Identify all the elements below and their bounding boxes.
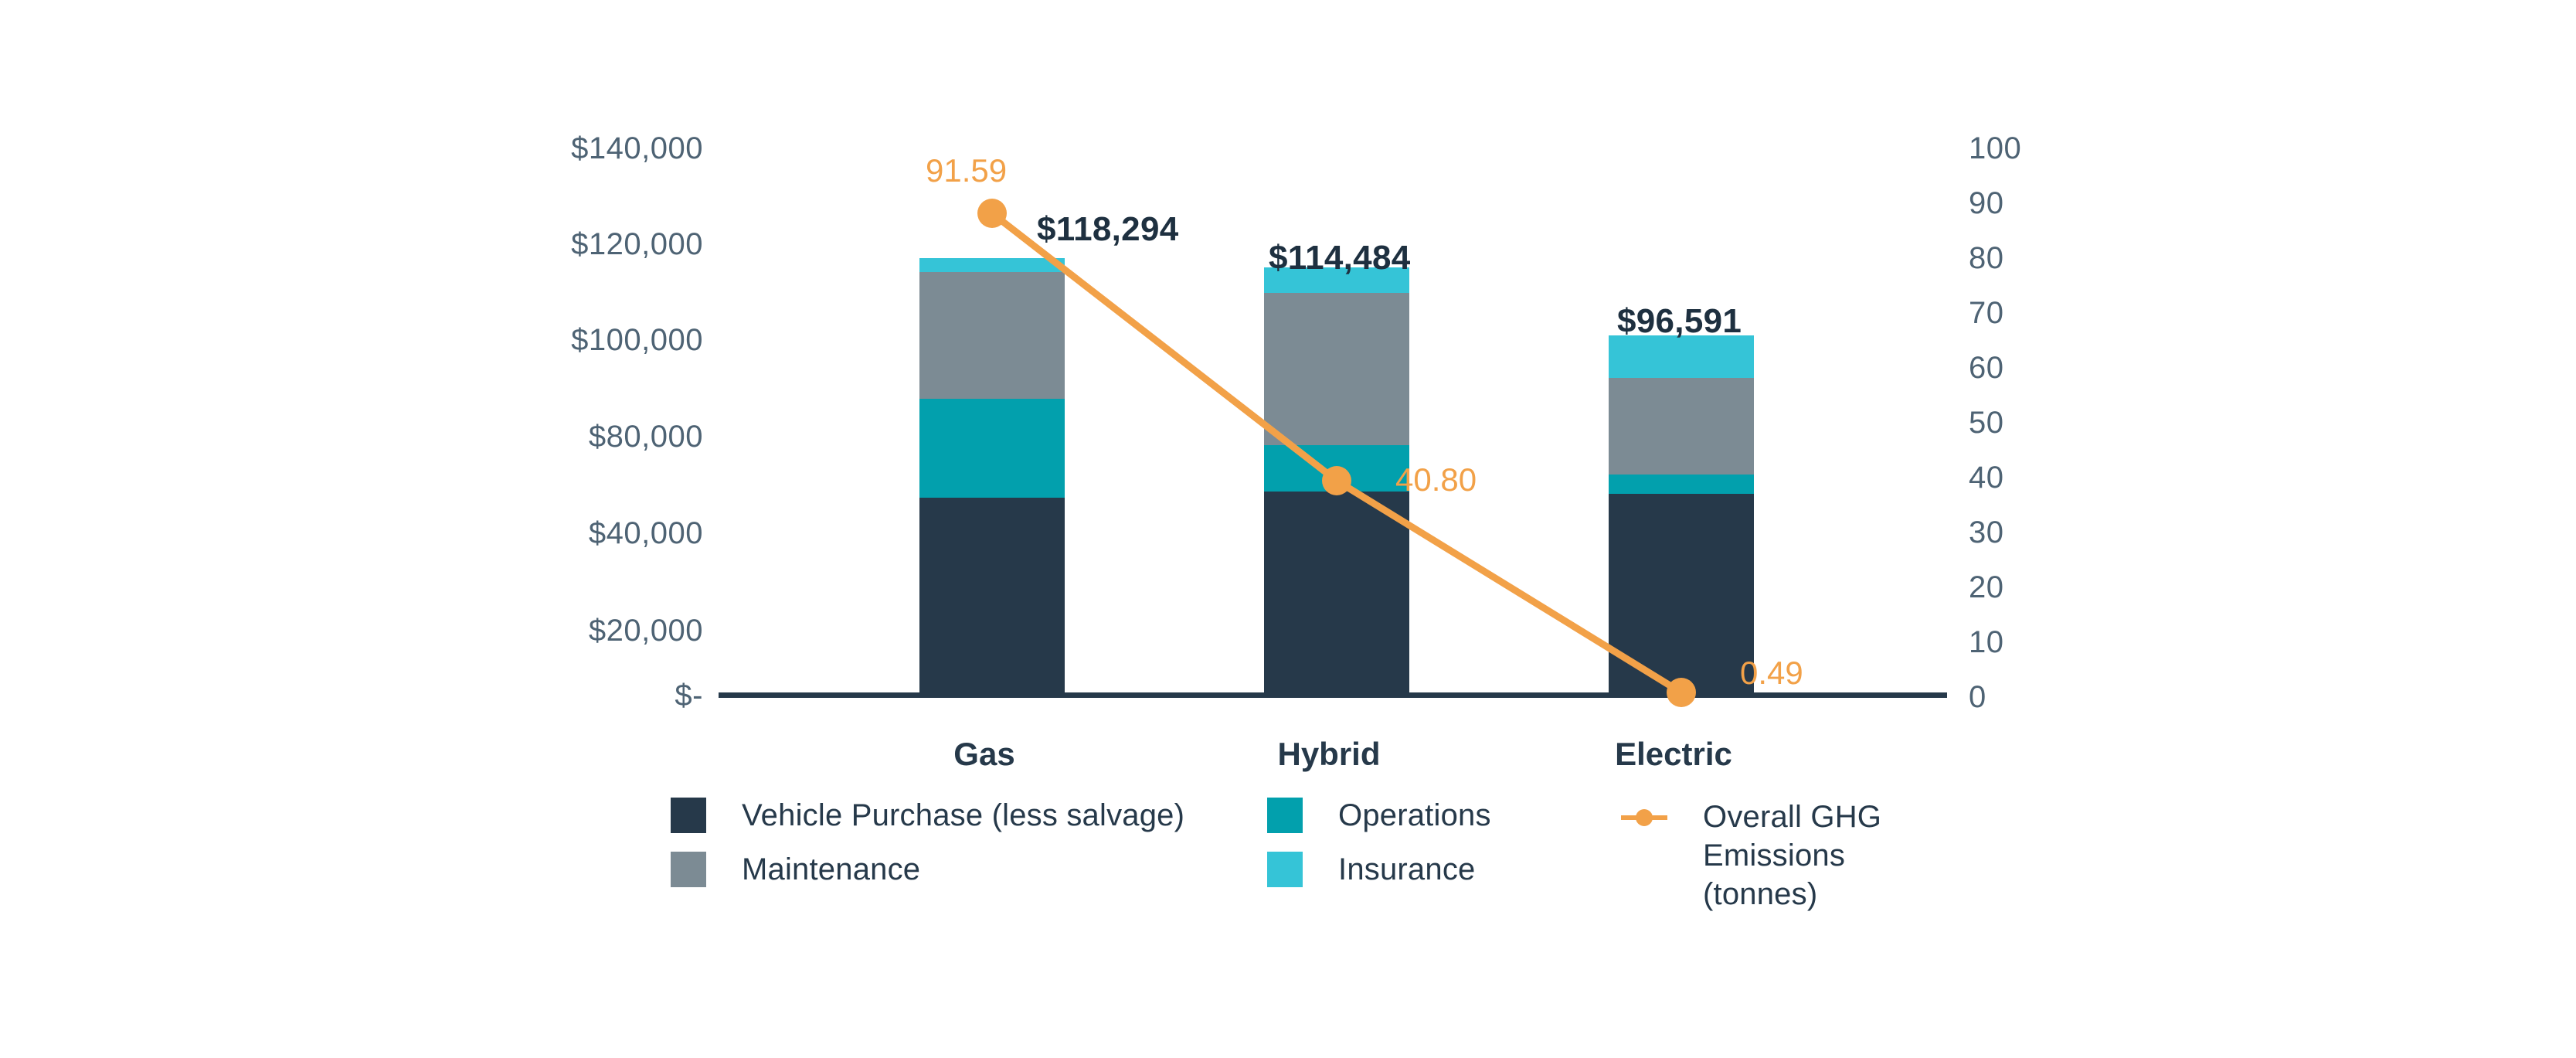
y-axis-right-tick: 90 bbox=[1969, 188, 2004, 219]
legend-swatch-icon bbox=[671, 852, 706, 887]
bar-total-label-gas: $118,294 bbox=[1037, 213, 1179, 247]
bar-segment-insurance bbox=[919, 258, 1065, 272]
bar-electric[interactable] bbox=[1609, 335, 1754, 696]
bar-segment-vehicle-purchase bbox=[919, 498, 1065, 696]
y-axis-right-tick: 10 bbox=[1969, 627, 2004, 658]
legend-swatch-icon bbox=[1267, 852, 1303, 887]
bar-segment-maintenance bbox=[919, 272, 1065, 399]
y-axis-left-tick: $100,000 bbox=[571, 325, 703, 356]
legend-item-ghg-emissions[interactable]: Overall GHG Emissions (tonnes) bbox=[1621, 798, 1984, 913]
y-axis-left-tick: $- bbox=[675, 680, 703, 711]
bar-segment-maintenance bbox=[1609, 378, 1754, 475]
bar-gas[interactable] bbox=[919, 258, 1065, 696]
y-axis-left-tick: $40,000 bbox=[589, 518, 703, 549]
legend-item-vehicle-purchase[interactable]: Vehicle Purchase (less salvage) bbox=[671, 796, 1184, 835]
x-axis-label-electric: Electric bbox=[1609, 738, 1738, 771]
chart-legend: Vehicle Purchase (less salvage) Maintena… bbox=[671, 796, 1984, 920]
legend-swatch-icon bbox=[1267, 798, 1303, 833]
bar-segment-maintenance bbox=[1264, 293, 1409, 445]
bar-segment-vehicle-purchase bbox=[1264, 492, 1409, 696]
bar-segment-insurance bbox=[1609, 335, 1754, 378]
legend-label: Maintenance bbox=[742, 850, 920, 889]
legend-item-insurance[interactable]: Insurance bbox=[1267, 850, 1475, 889]
y-axis-right-tick: 30 bbox=[1969, 517, 2004, 548]
legend-item-maintenance[interactable]: Maintenance bbox=[671, 850, 920, 889]
bar-total-label-electric: $96,591 bbox=[1617, 304, 1742, 338]
legend-label: Insurance bbox=[1338, 850, 1475, 889]
y-axis-right-tick: 80 bbox=[1969, 243, 2004, 274]
y-axis-right-tick: 0 bbox=[1969, 682, 1986, 713]
bar-hybrid[interactable] bbox=[1264, 267, 1409, 696]
legend-label: Operations bbox=[1338, 796, 1491, 835]
bar-segment-operations bbox=[919, 399, 1065, 498]
y-axis-right-tick: 70 bbox=[1969, 298, 2004, 328]
legend-swatch-icon bbox=[671, 798, 706, 833]
combo-chart: $140,000 $120,000 $100,000 $80,000 $40,0… bbox=[0, 0, 2576, 1058]
plot-area: $118,294 $114,484 $96,591 bbox=[719, 124, 1939, 696]
x-axis-line bbox=[719, 692, 1947, 698]
y-axis-left-tick: $120,000 bbox=[571, 229, 703, 260]
legend-line-marker-icon bbox=[1621, 799, 1667, 835]
y-axis-right-tick: 60 bbox=[1969, 352, 2004, 383]
legend-label: Overall GHG Emissions (tonnes) bbox=[1703, 798, 1984, 913]
legend-item-operations[interactable]: Operations bbox=[1267, 796, 1491, 835]
y-axis-right-tick: 20 bbox=[1969, 572, 2004, 603]
y-axis-left-tick: $20,000 bbox=[589, 615, 703, 646]
x-axis-label-hybrid: Hybrid bbox=[1264, 738, 1394, 771]
y-axis-left-tick: $80,000 bbox=[589, 421, 703, 452]
y-axis-left-tick: $140,000 bbox=[571, 133, 703, 164]
bar-segment-operations bbox=[1609, 475, 1754, 494]
x-axis-label-gas: Gas bbox=[919, 738, 1049, 771]
y-axis-right-tick: 50 bbox=[1969, 407, 2004, 438]
bar-segment-operations bbox=[1264, 445, 1409, 492]
y-axis-right-tick: 40 bbox=[1969, 462, 2004, 493]
y-axis-right-tick: 100 bbox=[1969, 133, 2021, 164]
legend-label: Vehicle Purchase (less salvage) bbox=[742, 796, 1184, 835]
y-axis-right: 100 90 80 70 60 50 40 30 20 10 0 bbox=[1969, 0, 2139, 1058]
bar-total-label-hybrid: $114,484 bbox=[1269, 241, 1411, 275]
bar-segment-vehicle-purchase bbox=[1609, 494, 1754, 696]
y-axis-left: $140,000 $120,000 $100,000 $80,000 $40,0… bbox=[433, 0, 703, 1058]
